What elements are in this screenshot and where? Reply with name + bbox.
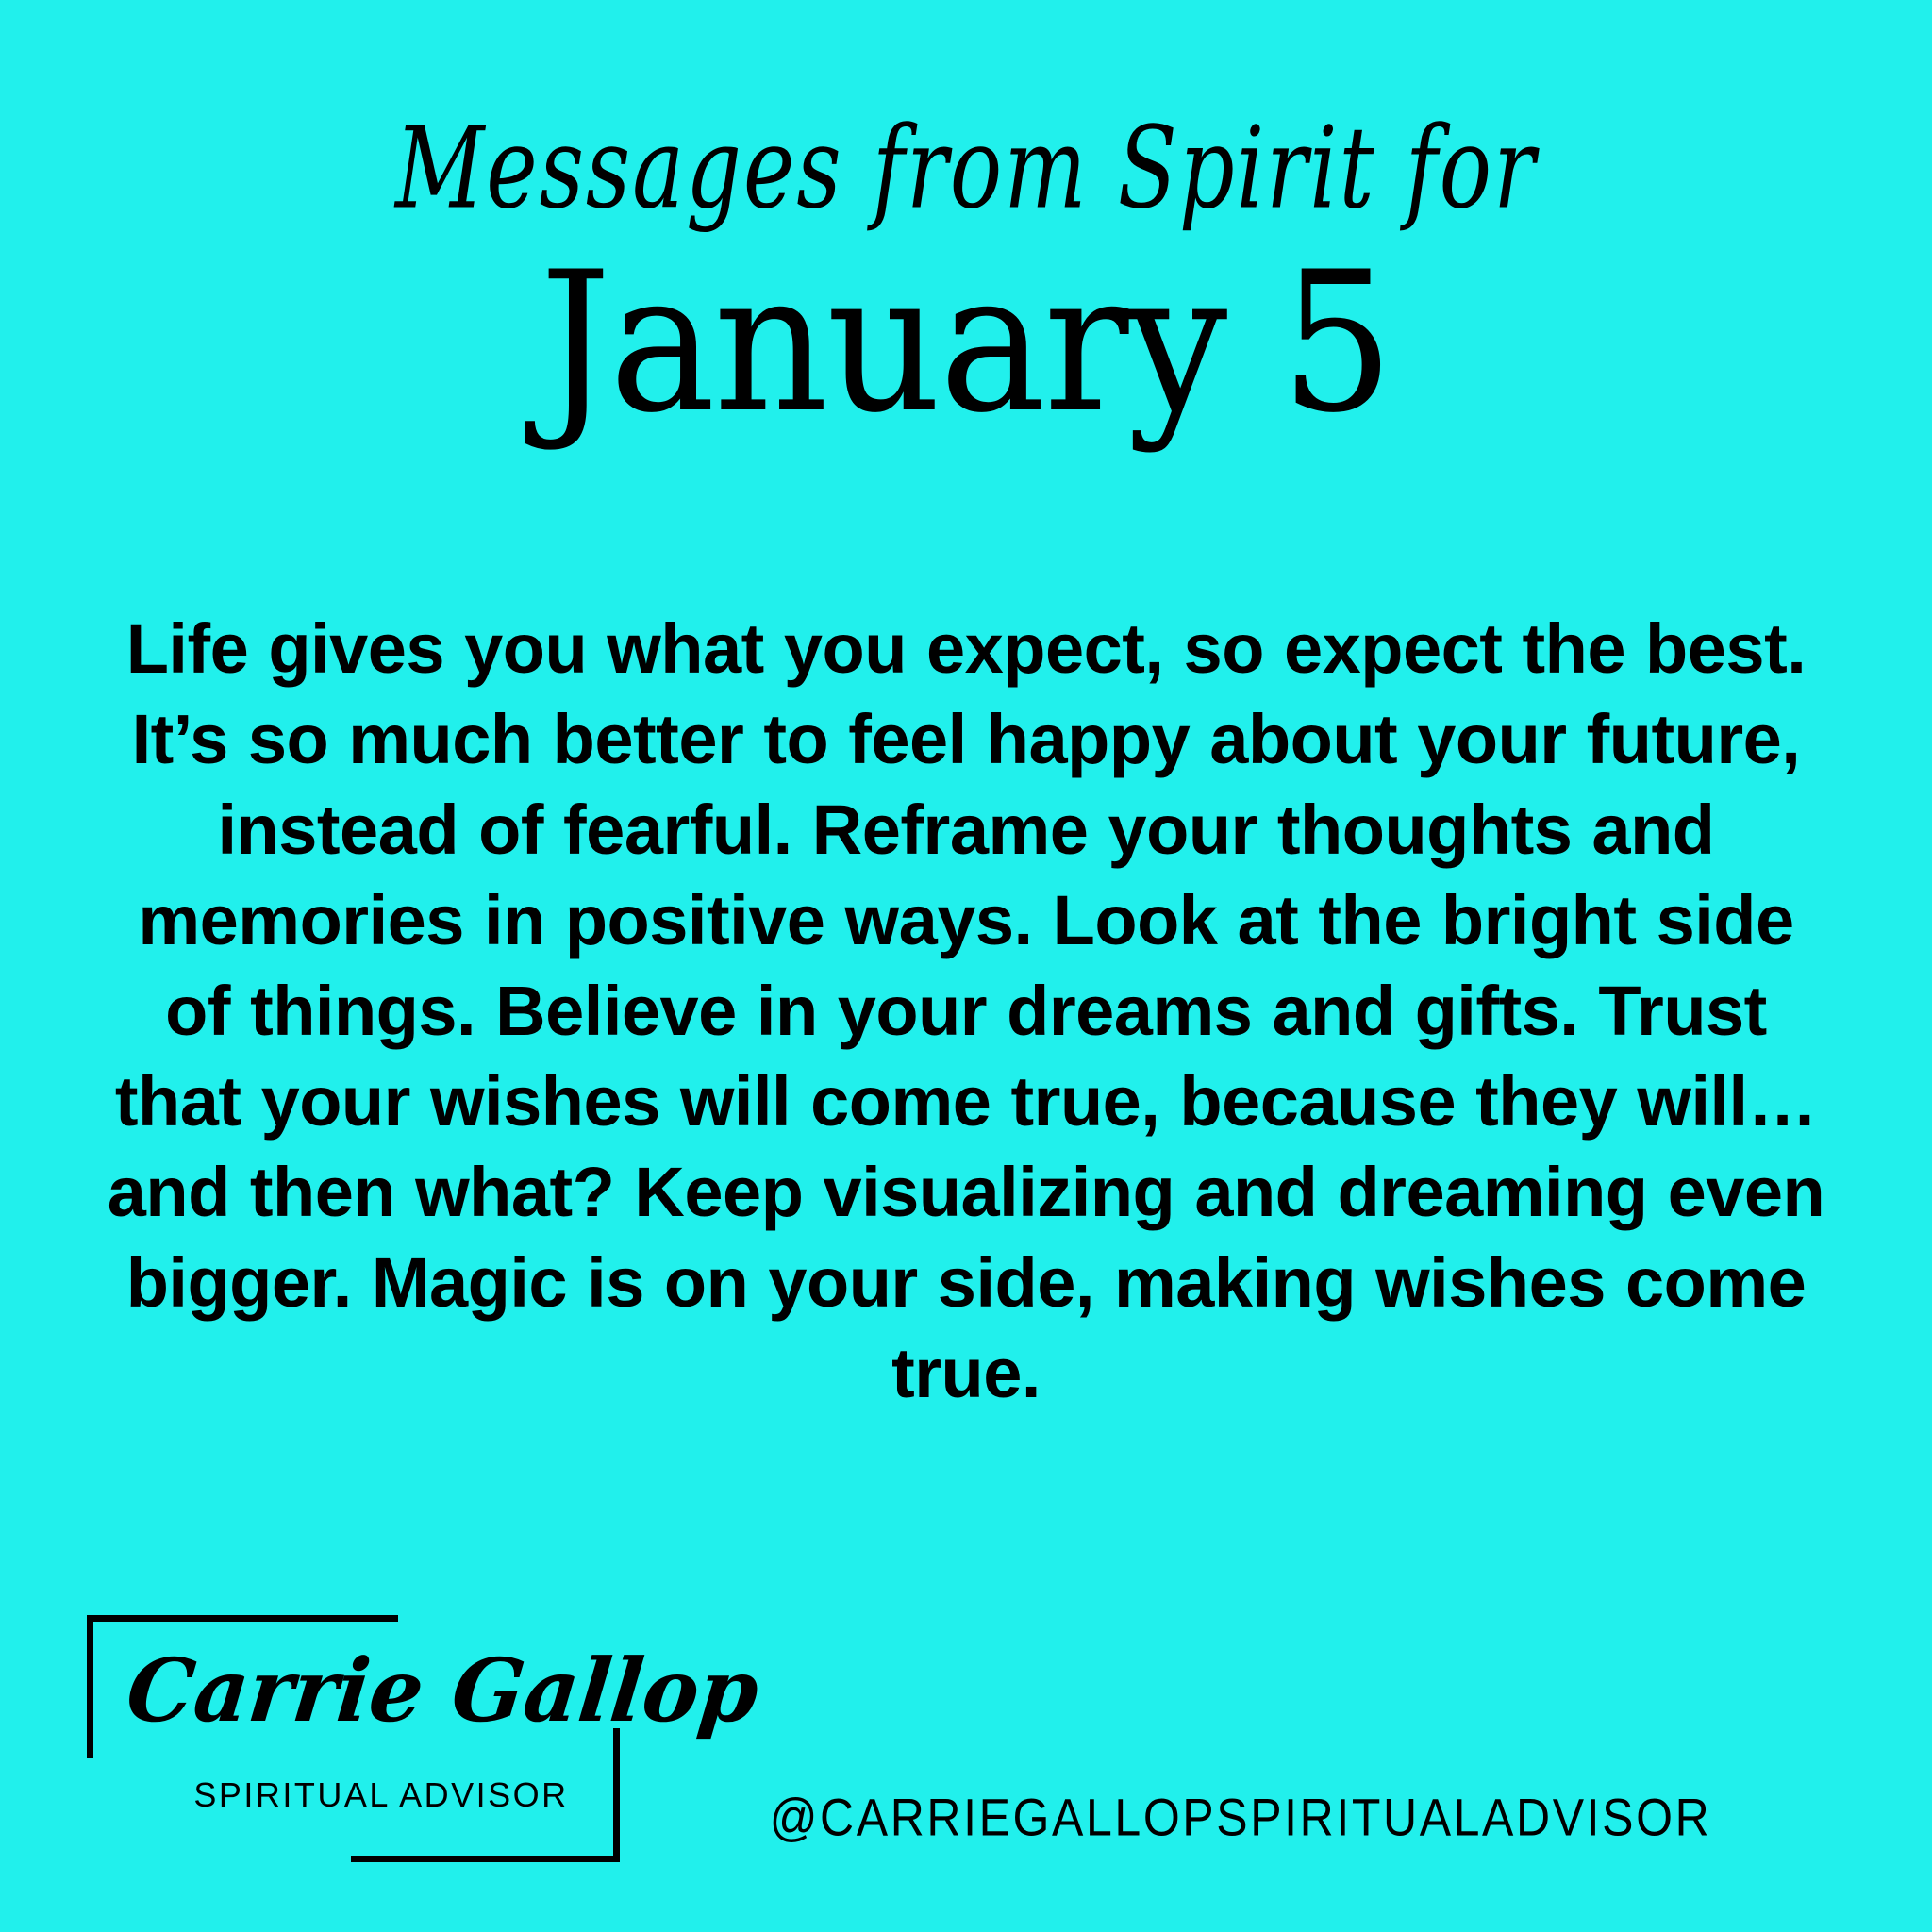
social-post-card: Messages from Spirit for January 5 Life … — [0, 0, 1932, 1932]
logo-tagline: SPIRITUAL ADVISOR — [136, 1775, 626, 1815]
logo-brand-name: Carrie Gallop — [123, 1647, 608, 1734]
message-body-text: Life gives you what you expect, so expec… — [98, 604, 1834, 1419]
brand-logo: Carrie Gallop SPIRITUAL ADVISOR — [77, 1604, 643, 1877]
social-handle-text: @CARRIEGALLOPSPIRITUALADVISOR — [755, 1787, 1726, 1848]
header-script-line: Messages from Spirit for — [39, 111, 1893, 225]
page-title: January 5 — [77, 247, 1855, 441]
